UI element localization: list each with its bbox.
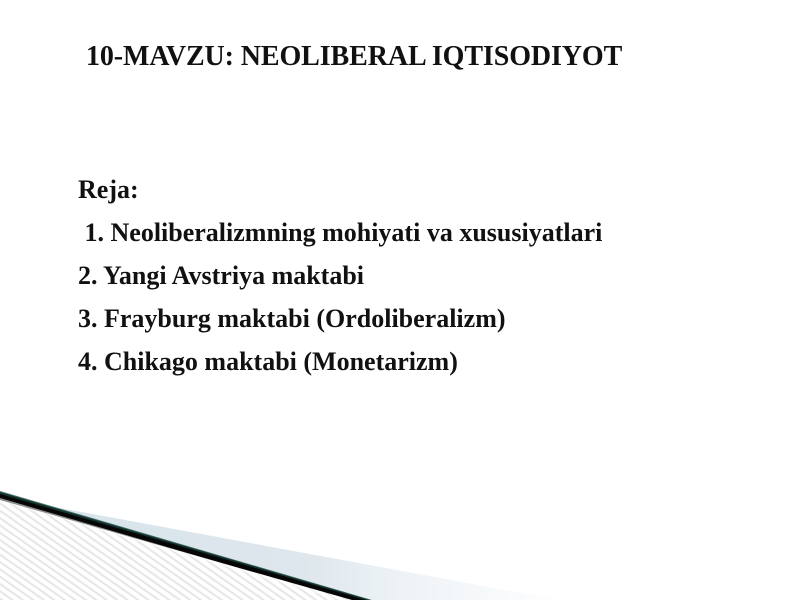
corner-decoration-svg — [0, 490, 560, 600]
pale-wedge-shape — [0, 497, 560, 600]
dark-band-shape — [0, 492, 370, 600]
slide-canvas: 10-MAVZU: NEOLIBERAL IQTISODIYOT Reja: 1… — [0, 0, 800, 600]
hatch-band-separator — [0, 498, 348, 600]
agenda-item-2: 2. Yangi Avstriya maktabi — [78, 254, 758, 297]
agenda-item-3: 3. Frayburg maktabi (Ordoliberalizm) — [78, 297, 758, 340]
agenda-item-4: 4. Chikago maktabi (Monetarizm) — [78, 340, 758, 383]
agenda-block: Reja: 1. Neoliberalizmning mohiyati va x… — [78, 168, 758, 383]
corner-decoration-graphic — [0, 490, 560, 600]
agenda-item-1: 1. Neoliberalizmning mohiyati va xususiy… — [78, 211, 758, 254]
hatched-wedge-shape — [0, 500, 352, 600]
agenda-heading: Reja: — [78, 168, 758, 211]
dark-band-edge-highlight — [0, 491, 372, 600]
page-title: 10-MAVZU: NEOLIBERAL IQTISODIYOT — [86, 41, 726, 73]
